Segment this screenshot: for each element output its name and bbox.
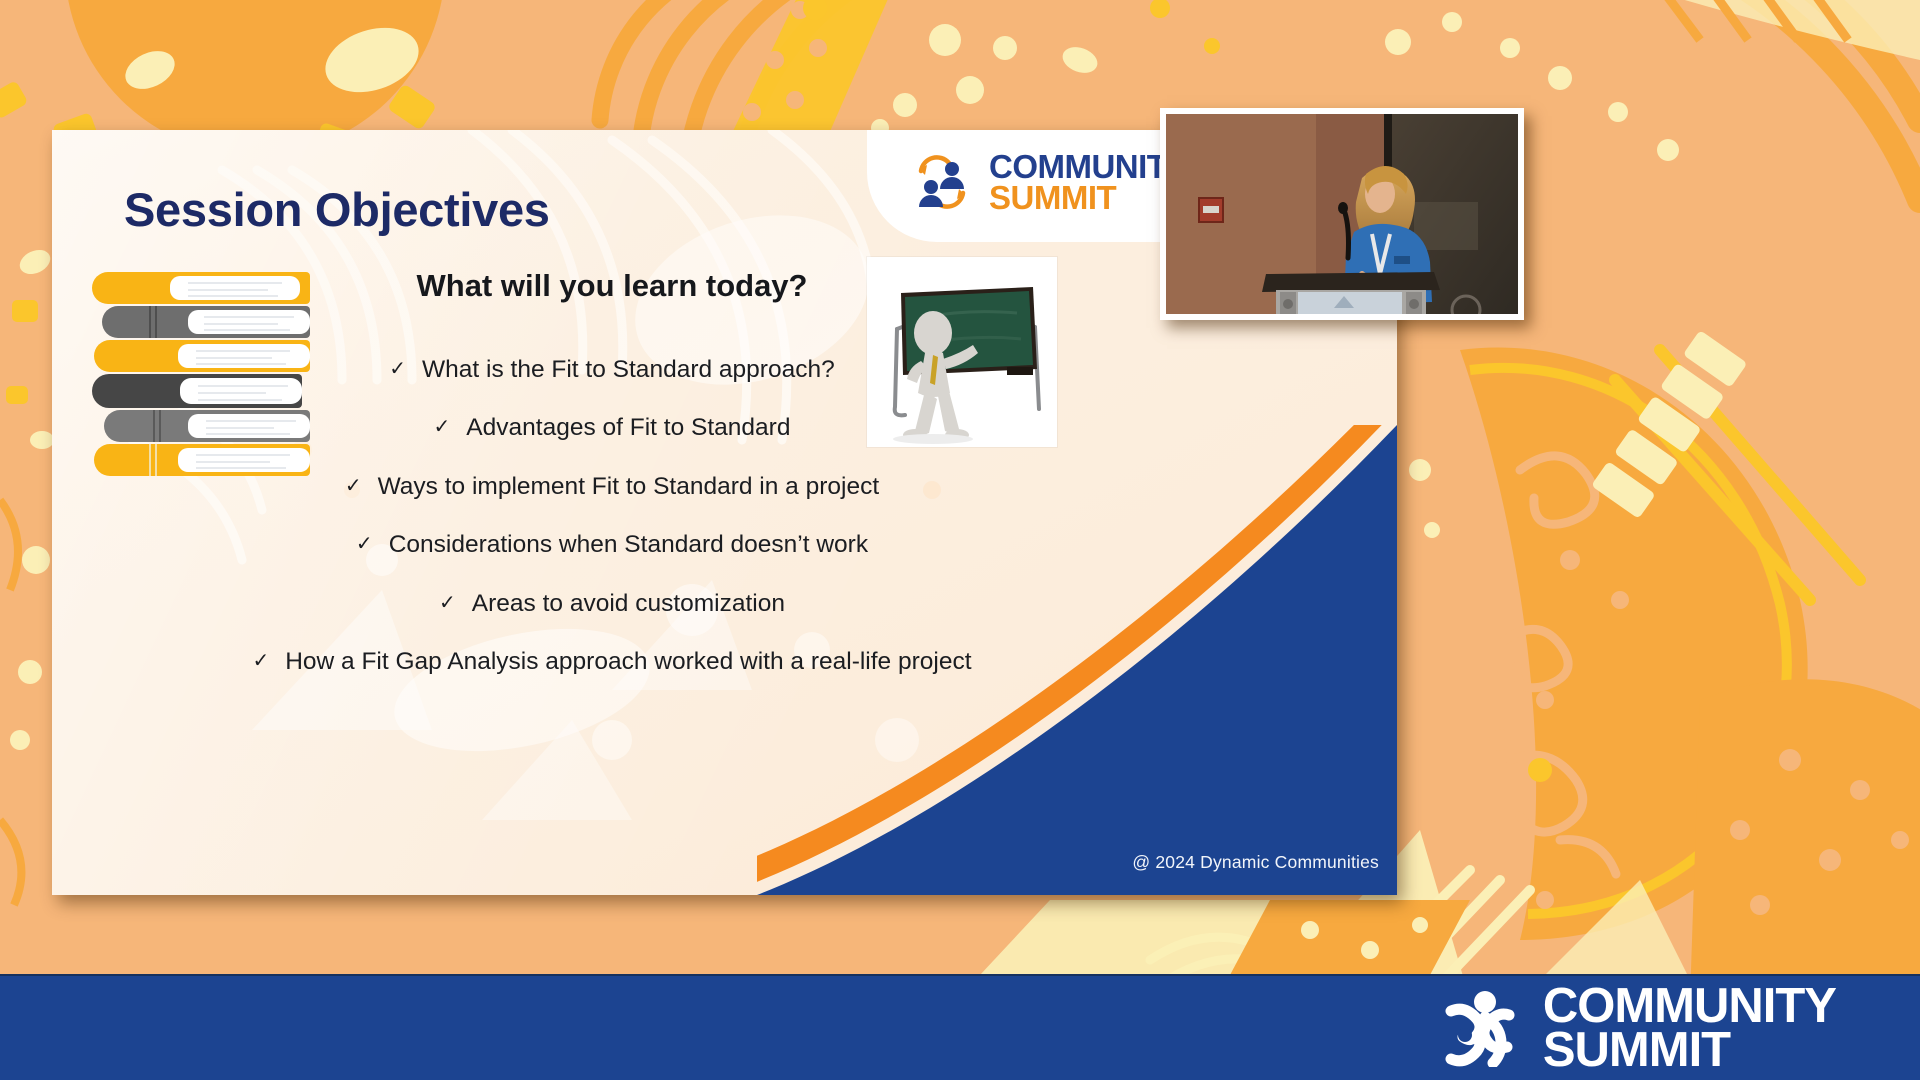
check-icon: ✓ [345, 473, 362, 500]
list-item: ✓ How a Fit Gap Analysis approach worked… [252, 648, 972, 675]
community-summit-footer-logo: COMMUNITY SUMMIT [1439, 984, 1836, 1072]
list-item-label: Advantages of Fit to Standard [466, 414, 790, 441]
speaker-video-window[interactable] [1160, 108, 1524, 320]
copyright-notice: @ 2024 Dynamic Communities [1132, 852, 1379, 873]
check-icon: ✓ [389, 356, 406, 383]
list-item-label: What is the Fit to Standard approach? [422, 356, 835, 383]
slide-heading: What will you learn today? [272, 268, 952, 304]
objectives-list: ✓ What is the Fit to Standard approach? … [252, 325, 972, 676]
check-icon: ✓ [356, 531, 373, 558]
community-summit-figure-icon [1439, 989, 1523, 1067]
check-icon: ✓ [252, 648, 269, 675]
list-item-label: Considerations when Standard doesn’t wor… [389, 531, 868, 558]
list-item: ✓ Areas to avoid customization [252, 590, 972, 617]
logo-line-1: COMMUNITY [989, 151, 1188, 182]
list-item: ✓ Advantages of Fit to Standard [252, 414, 972, 441]
list-item-label: Areas to avoid customization [472, 590, 785, 617]
list-item-label: Ways to implement Fit to Standard in a p… [378, 473, 880, 500]
list-item-label: How a Fit Gap Analysis approach worked w… [285, 648, 971, 675]
list-item: ✓ What is the Fit to Standard approach? [252, 356, 972, 383]
check-icon: ✓ [434, 414, 451, 441]
bottom-branding-bar: COMMUNITY SUMMIT [0, 974, 1920, 1080]
list-item: ✓ Considerations when Standard doesn’t w… [252, 531, 972, 558]
two-people-circular-arrows-icon [909, 151, 975, 213]
list-item: ✓ Ways to implement Fit to Standard in a… [252, 473, 972, 500]
check-icon: ✓ [439, 590, 456, 617]
footer-logo-line-1: COMMUNITY [1543, 984, 1836, 1028]
logo-line-2: SUMMIT [989, 182, 1188, 213]
speaker-at-podium-image [1166, 114, 1518, 314]
video-frame[interactable] [1166, 114, 1518, 314]
footer-logo-line-2: SUMMIT [1543, 1028, 1836, 1072]
page-title: Session Objectives [124, 182, 550, 237]
